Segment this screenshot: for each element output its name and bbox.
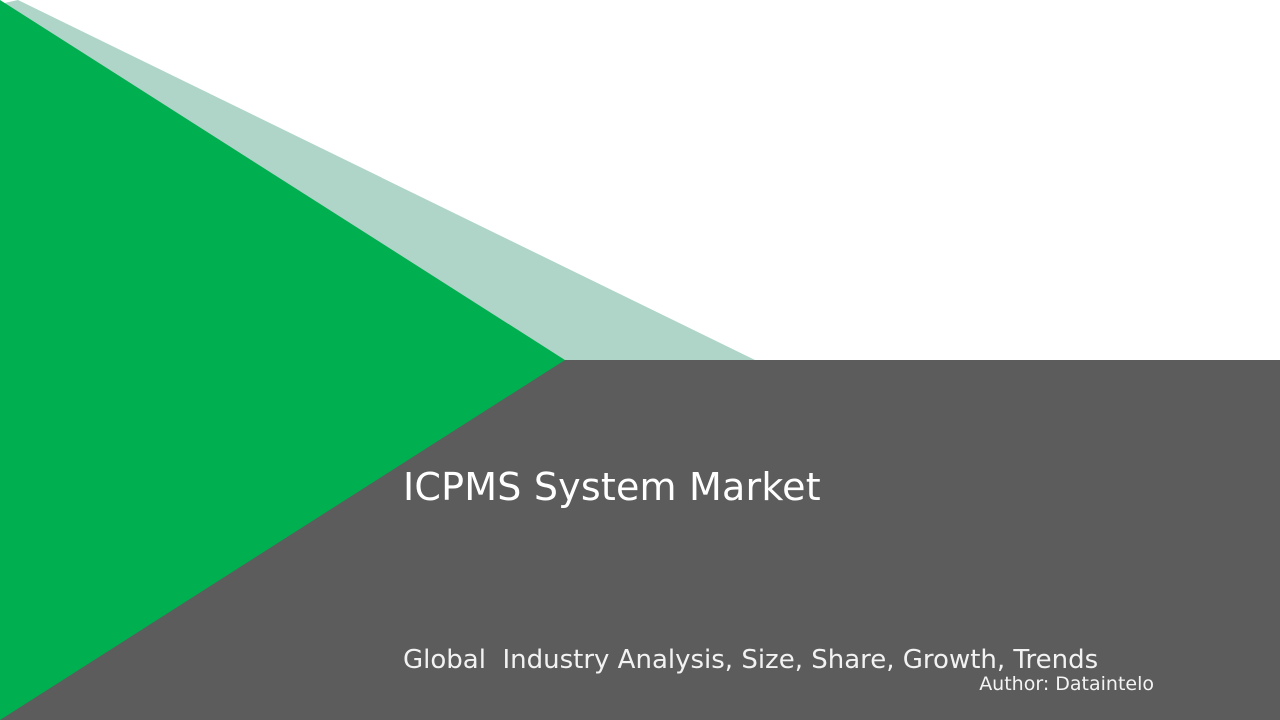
page-title: ICPMS System Market — [403, 462, 1223, 512]
report-cover-slide: ICPMS System Market Global Industry Anal… — [0, 0, 1280, 720]
author-label: Author: Dataintelo — [979, 671, 1154, 697]
